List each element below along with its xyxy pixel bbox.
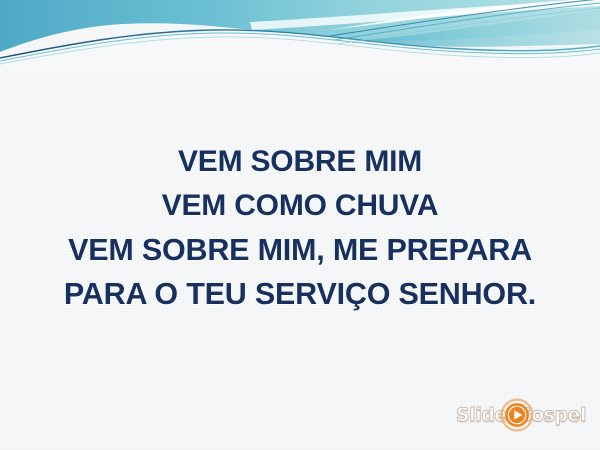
presentation-slide: VEM SOBRE MIM VEM COMO CHUVA VEM SOBRE M… [0,0,600,450]
lyric-line-2: VEM COMO CHUVA [0,184,600,228]
lyric-line-4: PARA O TEU SERVIÇO SENHOR. [0,272,600,316]
decorative-wave-banner [0,0,600,72]
play-circle-icon [500,398,534,432]
slidegospel-logo: Slide Gospel [456,396,588,436]
lyrics-block: VEM SOBRE MIM VEM COMO CHUVA VEM SOBRE M… [0,140,600,316]
lyric-line-1: VEM SOBRE MIM [0,140,600,184]
lyric-line-3: VEM SOBRE MIM, ME PREPARA [0,228,600,272]
